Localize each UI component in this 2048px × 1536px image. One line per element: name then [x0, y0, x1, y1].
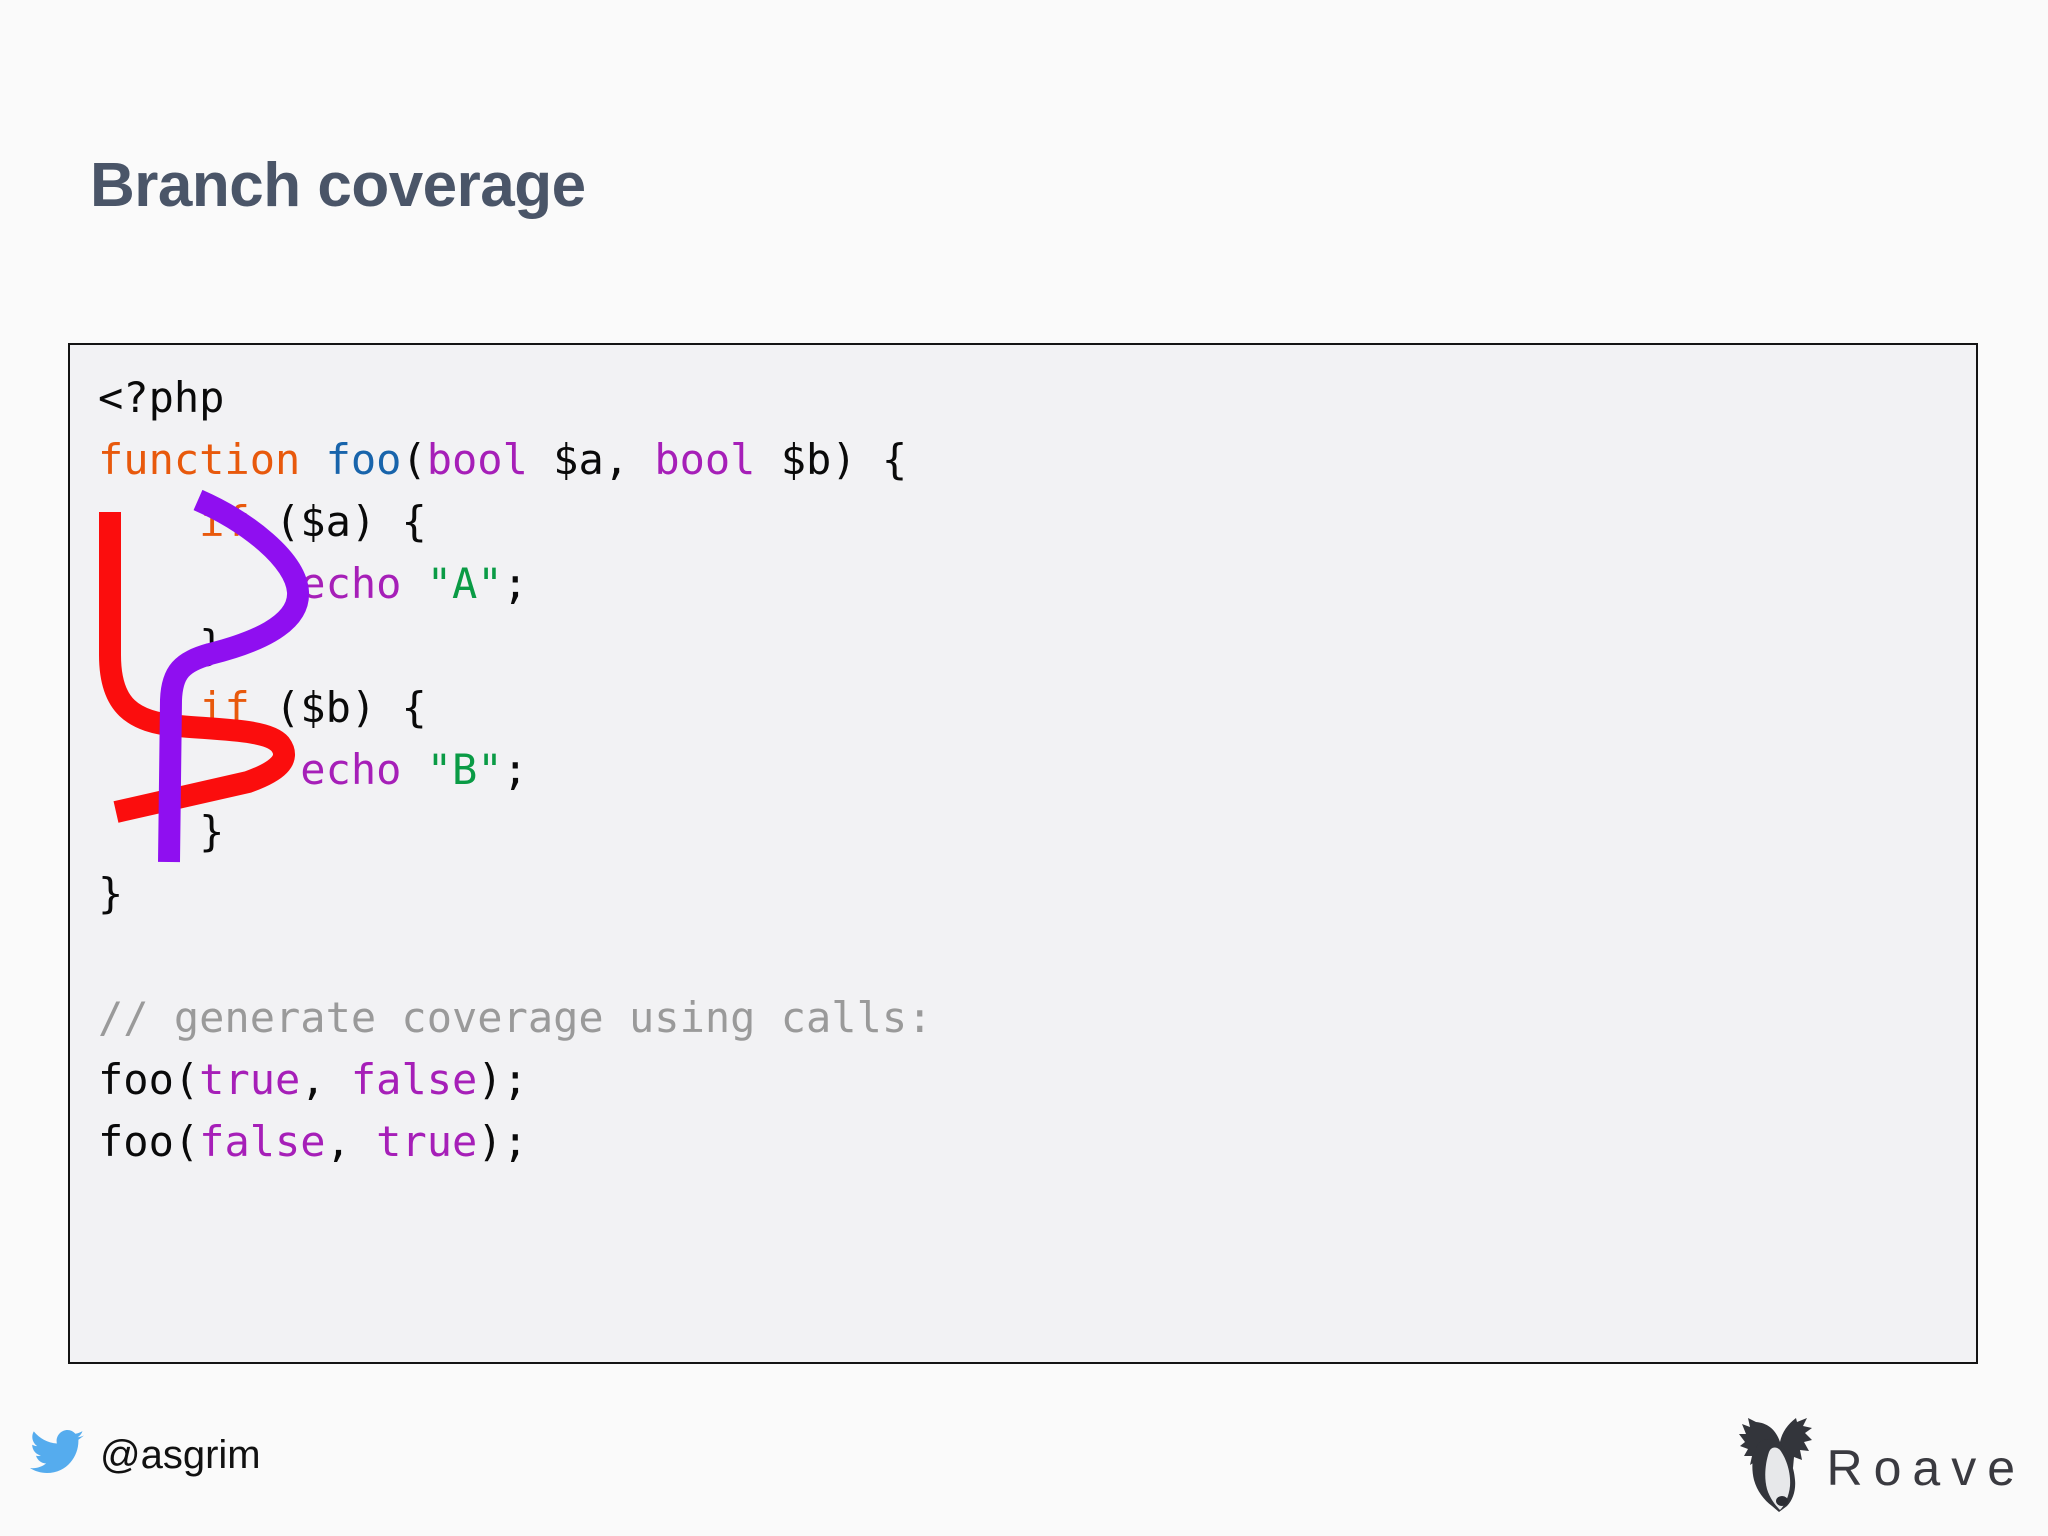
code-token-plain: foo(: [98, 1117, 199, 1166]
code-line: echo "A";: [98, 553, 932, 615]
code-token-kw: if: [199, 683, 250, 732]
code-line: <?php: [98, 367, 932, 429]
code-token-type: true: [376, 1117, 477, 1166]
code-token-fn: foo: [326, 435, 402, 484]
code-token-plain: ,: [326, 1117, 377, 1166]
code-token-plain: [401, 745, 426, 794]
code-token-plain: }: [98, 869, 123, 918]
code-token-plain: [98, 559, 300, 608]
code-token-type: true: [199, 1055, 300, 1104]
code-line: foo(false, true);: [98, 1111, 932, 1173]
code-token-type: bool: [654, 435, 755, 484]
footer-twitter[interactable]: @asgrim: [30, 1430, 261, 1481]
code-token-str: "B": [427, 745, 503, 794]
code-token-plain: [401, 559, 426, 608]
code-token-plain: ;: [503, 559, 528, 608]
code-token-type: echo: [300, 745, 401, 794]
code-token-plain: [98, 745, 300, 794]
code-token-plain: ($b) {: [250, 683, 427, 732]
code-line: function foo(bool $a, bool $b) {: [98, 429, 932, 491]
code-token-plain: foo(: [98, 1055, 199, 1104]
code-line: foo(true, false);: [98, 1049, 932, 1111]
code-token-plain: );: [477, 1117, 528, 1166]
code-line: echo "B";: [98, 739, 932, 801]
code-line: }: [98, 863, 932, 925]
code-token-plain: (: [401, 435, 426, 484]
code-line: [98, 925, 932, 987]
code-token-plain: );: [477, 1055, 528, 1104]
code-token-str: "A": [427, 559, 503, 608]
code-token-type: bool: [427, 435, 528, 484]
code-token-type: false: [351, 1055, 477, 1104]
code-block: <?phpfunction foo(bool $a, bool $b) { if…: [98, 367, 932, 1173]
code-sample-card: <?phpfunction foo(bool $a, bool $b) { if…: [68, 343, 1978, 1364]
code-token-kw: function: [98, 435, 326, 484]
code-token-kw: if: [199, 497, 250, 546]
twitter-handle-label: @asgrim: [100, 1433, 261, 1478]
code-token-plain: [98, 931, 123, 980]
brand-name-label: Roave: [1826, 1439, 2026, 1497]
twitter-bird-icon: [30, 1430, 84, 1481]
code-token-type: false: [199, 1117, 325, 1166]
code-token-plain: }: [98, 621, 224, 670]
code-token-plain: ;: [503, 745, 528, 794]
code-line: }: [98, 615, 932, 677]
code-token-type: echo: [300, 559, 401, 608]
presentation-slide: Branch coverage <?phpfunction foo(bool $…: [0, 0, 2048, 1536]
page-title: Branch coverage: [90, 150, 586, 221]
code-line: // generate coverage using calls:: [98, 987, 932, 1049]
roave-dog-icon: [1738, 1418, 1816, 1517]
code-token-plain: ($a) {: [250, 497, 427, 546]
footer-brand[interactable]: Roave: [1738, 1418, 2026, 1517]
code-token-plain: $b) {: [755, 435, 907, 484]
code-token-cmt: // generate coverage using calls:: [98, 993, 932, 1042]
code-line: }: [98, 801, 932, 863]
code-token-plain: <?php: [98, 373, 224, 422]
code-token-plain: ,: [300, 1055, 351, 1104]
code-token-plain: $a,: [528, 435, 654, 484]
code-token-plain: [98, 497, 199, 546]
code-line: if ($b) {: [98, 677, 932, 739]
code-token-plain: }: [98, 807, 224, 856]
code-line: if ($a) {: [98, 491, 932, 553]
code-token-plain: [98, 683, 199, 732]
